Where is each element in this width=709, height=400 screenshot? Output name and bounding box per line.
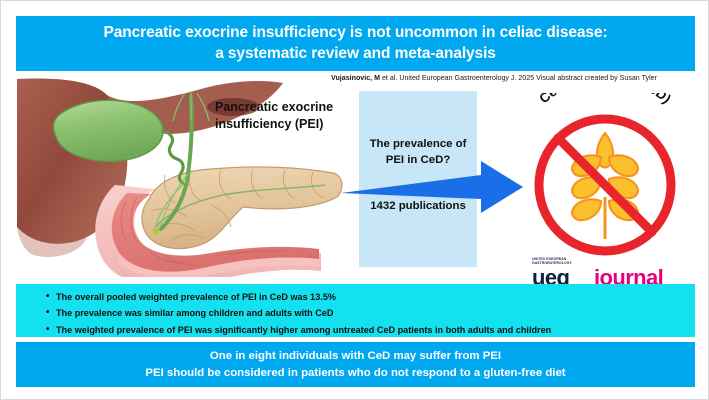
title-line-2: a systematic review and meta-analysis — [103, 44, 607, 65]
conclusion-line-2: PEI should be considered in patients who… — [145, 365, 565, 382]
key-findings-list: The overall pooled weighted prevalence o… — [16, 289, 695, 338]
citation-source: et al. United European Gastroenterology … — [380, 74, 657, 82]
celiac-disease-graphic — [517, 93, 693, 258]
pei-label-line-1: Pancreatic exocrine — [215, 99, 355, 116]
flow-arrow — [341, 161, 523, 213]
pancreas-organ — [142, 167, 342, 249]
title-bar: Pancreatic exocrine insufficiency is not… — [16, 16, 695, 71]
list-item: The overall pooled weighted prevalence o… — [56, 289, 685, 305]
visual-abstract-page: Pancreatic exocrine insufficiency is not… — [0, 0, 709, 400]
key-findings-panel: The overall pooled weighted prevalence o… — [16, 284, 695, 337]
pei-label-line-2: insufficiency (PEI) — [215, 116, 355, 133]
pei-label: Pancreatic exocrine insufficiency (PEI) — [215, 99, 355, 133]
list-item: The prevalence was similar among childre… — [56, 305, 685, 321]
conclusion-line-1: One in eight individuals with CeD may su… — [210, 348, 501, 365]
citation-line: Vujasinovic, M et al. United European Ga… — [331, 72, 695, 84]
title-line-1: Pancreatic exocrine insufficiency is not… — [103, 23, 607, 44]
conclusion-panel: One in eight individuals with CeD may su… — [16, 342, 695, 387]
research-question-line-1: The prevalence of — [359, 137, 477, 153]
page-title: Pancreatic exocrine insufficiency is not… — [91, 23, 619, 65]
no-gluten-icon — [517, 93, 693, 258]
list-item: The weighted prevalence of PEI was signi… — [56, 322, 685, 338]
arrow-icon — [341, 161, 523, 213]
